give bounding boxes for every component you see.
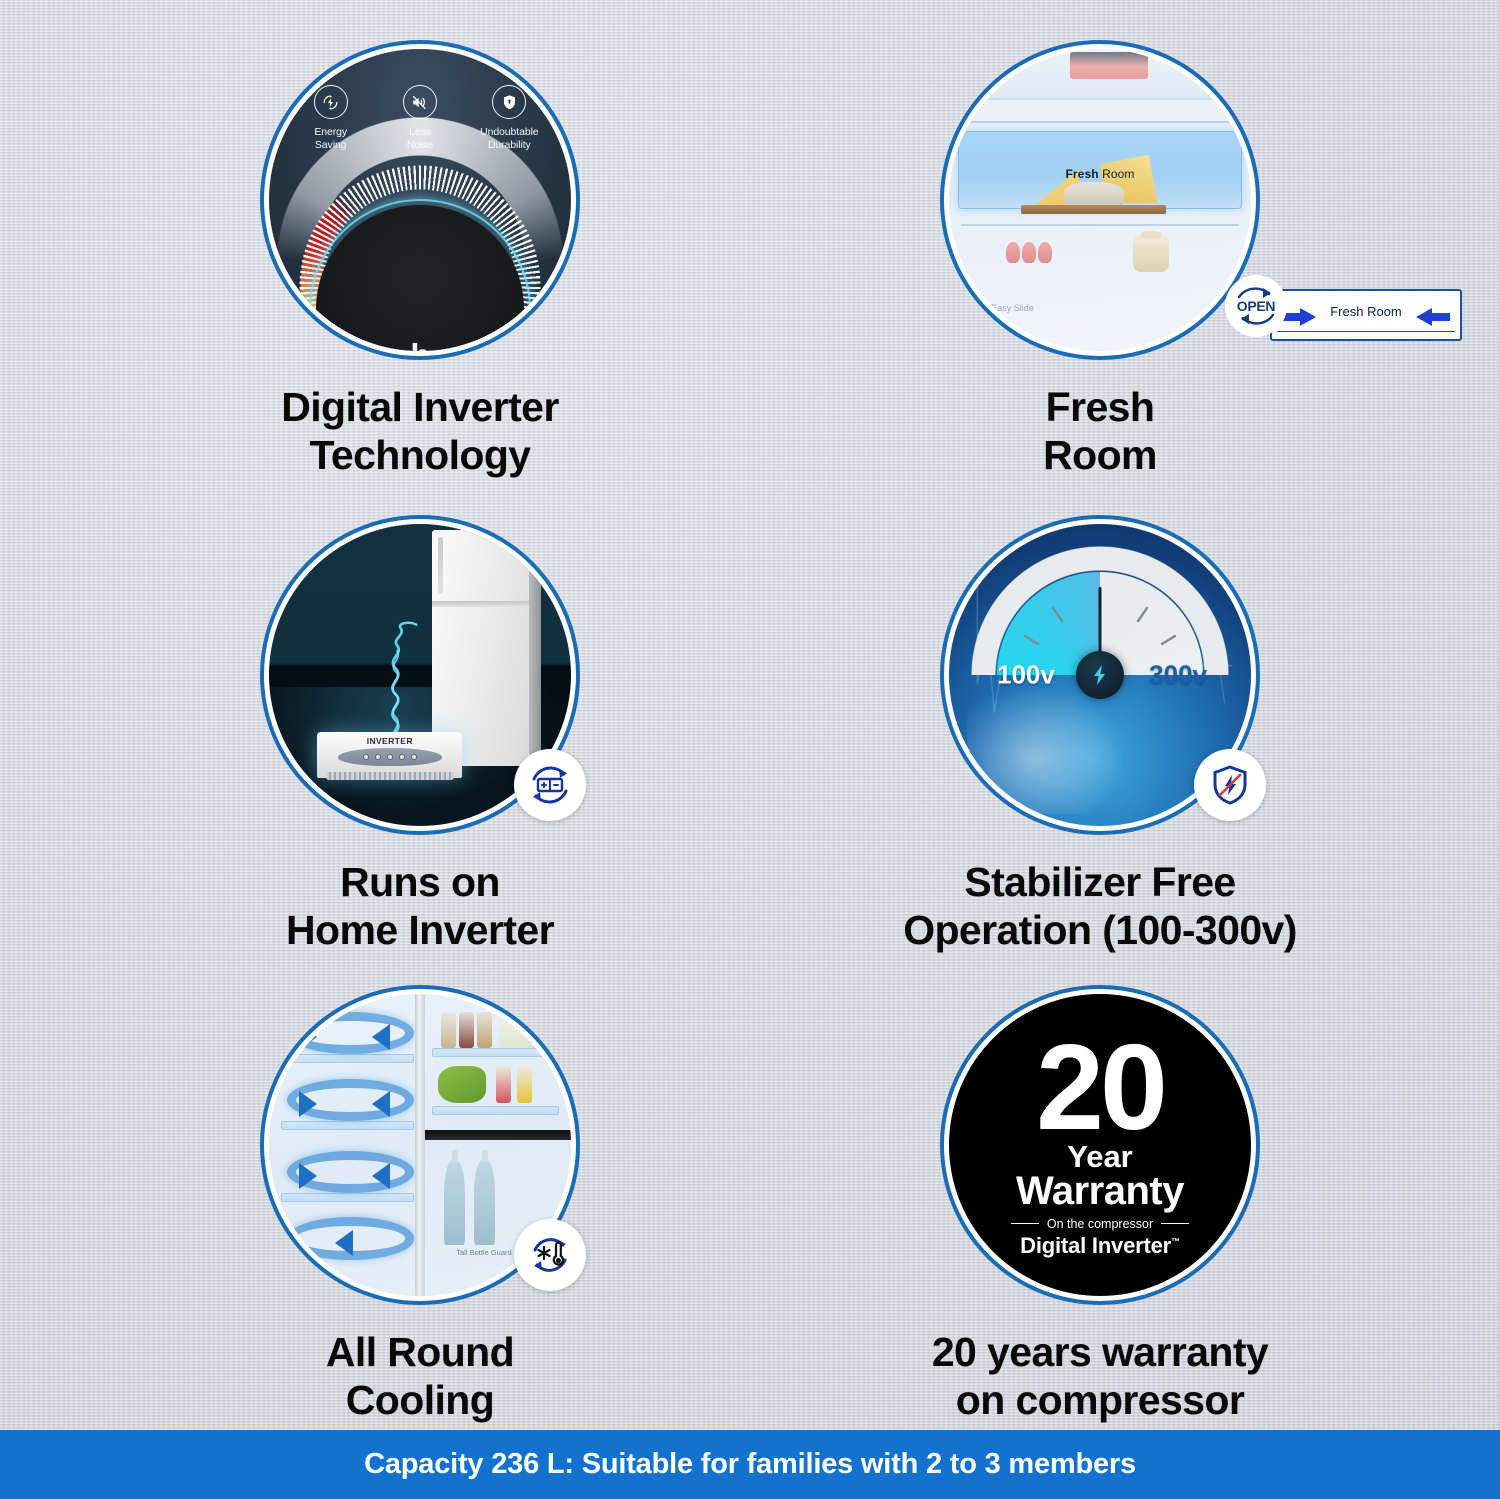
caption-line-1: Stabilizer Free (964, 859, 1235, 905)
feature-warranty: 20 Year Warranty On the compressor Digit… (790, 985, 1410, 1424)
lightning-bolt-icon (1088, 663, 1112, 687)
meat-tray (1070, 52, 1149, 79)
shelf (432, 1106, 559, 1115)
feature-image-home-inverter: INVERTER (260, 515, 580, 835)
open-badge-label: OPEN (1237, 298, 1275, 314)
caption-line-2: Operation (100-300v) (903, 907, 1297, 955)
feature-image-digital-inverter: Energy Saving (260, 40, 580, 360)
shelf-line (961, 121, 1239, 123)
compartment-divider (420, 1130, 571, 1140)
airflow-arrow (372, 1091, 390, 1117)
circle-frame: Fresh Room Easy Slide (940, 40, 1260, 360)
feature-runs-on-home-inverter: INVERTER Ru (110, 515, 730, 954)
caption-line-2: Room (1043, 432, 1157, 480)
fresh-room-callout: Fresh Room (1270, 289, 1462, 341)
gauge-max-label: 300v (1149, 660, 1207, 691)
airflow-arrow (299, 1163, 317, 1189)
arrow-left-icon (1416, 307, 1450, 327)
home-inverter-unit: INVERTER (317, 732, 462, 777)
warranty-number: 20 (1036, 1037, 1164, 1137)
airflow-arrow (299, 1024, 317, 1050)
callout-label: Fresh Room (1330, 304, 1402, 319)
cutting-board (1021, 205, 1166, 215)
food-jar (477, 1012, 492, 1048)
feature-caption: Runs on Home Inverter (286, 859, 554, 954)
caption-line-2: Cooling (326, 1377, 514, 1425)
arrow-right-icon (1282, 307, 1316, 327)
caption-line-2: on compressor (932, 1377, 1268, 1425)
power-wave-icon (341, 609, 450, 748)
warranty-word: Warranty (1016, 1172, 1184, 1211)
warranty-seal: 20 Year Warranty On the compressor Digit… (949, 994, 1251, 1296)
airflow-arrow (372, 1163, 390, 1189)
warranty-brand: Digital Inverter™ (1020, 1233, 1180, 1259)
storage-jar (1133, 236, 1169, 272)
feature-stabilizer-free-operation: 100v 300v Stabilizer Free Operation (100… (790, 515, 1410, 954)
gauge-min-label: 100v (997, 660, 1055, 691)
shield-no-surge-icon (1204, 759, 1256, 811)
circle-frame: Energy Saving (260, 40, 580, 360)
caption-line-1: 20 years warranty (932, 1329, 1268, 1375)
warranty-subtitle: On the compressor (1011, 1217, 1189, 1231)
feature-caption: Fresh Room (1043, 384, 1157, 479)
door-divider (415, 994, 425, 1296)
feature-grid: Energy Saving (0, 0, 1500, 1430)
tall-bottle (444, 1160, 465, 1245)
caption-line-1: Fresh (1046, 384, 1155, 430)
drawer-label-bold: Fresh (1065, 167, 1098, 181)
warranty-subtitle-text: On the compressor (1047, 1217, 1153, 1231)
vegetables (438, 1066, 486, 1102)
refrigerator-side-panel (529, 554, 541, 753)
cooling-thermometer-badge (514, 1219, 586, 1291)
capacity-banner-text: Capacity 236 L: Suitable for families wi… (364, 1448, 1136, 1481)
drawer-label-rest: Room (1099, 167, 1135, 181)
shelf (281, 1193, 414, 1202)
feature-image-warranty-seal: 20 Year Warranty On the compressor Digit… (940, 985, 1260, 1305)
warranty-year-label: Year (1067, 1141, 1133, 1172)
circle-frame: 20 Year Warranty On the compressor Digit… (940, 985, 1260, 1305)
inverter-vents (326, 772, 454, 780)
shelf-line (961, 224, 1239, 226)
trademark-symbol: ™ (1171, 1236, 1180, 1246)
warranty-brand-text: Digital Inverter (1020, 1233, 1171, 1258)
tall-bottle-guard-label: Tall Bottle Guard (456, 1248, 511, 1257)
caption-line-1: All Round (326, 1329, 514, 1375)
feature-image-all-round-cooling: Tall Bottle Guard (260, 985, 580, 1305)
digital-inverter-logo: b DIGITAL INVERTER TECHNOLOGY (350, 340, 490, 351)
airflow-arrow (299, 1091, 317, 1117)
feature-caption: All Round Cooling (326, 1329, 514, 1424)
caption-line-1: Digital Inverter (281, 384, 558, 430)
battery-rotation-badge (514, 749, 586, 821)
caption-line-2: Technology (281, 432, 558, 480)
egg-tray (1006, 242, 1051, 263)
shelf (281, 1121, 414, 1130)
battery-rotation-icon (524, 759, 576, 811)
food-jar (459, 1012, 474, 1048)
airflow-arrow (372, 1024, 390, 1050)
feature-caption: Digital Inverter Technology (281, 384, 558, 479)
airflow-arrow (335, 1230, 353, 1256)
feature-image-fresh-room: Fresh Room Easy Slide Fresh Room (940, 40, 1260, 360)
shelf (281, 1054, 414, 1063)
digital-inverter-logo-mark: b (350, 340, 490, 351)
gauge-hub (1076, 651, 1124, 699)
inverter-unit-label: INVERTER (317, 736, 462, 746)
popcorn-pack (499, 1009, 541, 1048)
inverter-indicator-panel (338, 748, 442, 766)
shelf (432, 1048, 559, 1057)
easy-slide-label: Easy Slide (991, 303, 1034, 313)
caption-line-1: Runs on (340, 859, 500, 905)
open-badge: OPEN (1225, 275, 1287, 337)
feature-digital-inverter-technology: Energy Saving (110, 40, 730, 479)
capacity-banner: Capacity 236 L: Suitable for families wi… (0, 1430, 1500, 1499)
feature-fresh-room: Fresh Room Easy Slide Fresh Room (790, 40, 1410, 479)
feature-caption: 20 years warranty on compressor (932, 1329, 1268, 1424)
cooling-thermometer-icon (524, 1229, 576, 1281)
surge-protection-badge (1194, 749, 1266, 821)
tall-bottle (474, 1160, 495, 1245)
feature-all-round-cooling: Tall Bottle Guard All R (110, 985, 730, 1424)
food-jar (496, 1066, 511, 1102)
feature-caption: Stabilizer Free Operation (100-300v) (903, 859, 1297, 954)
feature-image-stabilizer: 100v 300v (940, 515, 1260, 835)
caption-line-2: Home Inverter (286, 907, 554, 955)
drawer-label: Fresh Room (949, 167, 1251, 181)
food-jar (517, 1066, 532, 1102)
food-jar (441, 1012, 456, 1048)
